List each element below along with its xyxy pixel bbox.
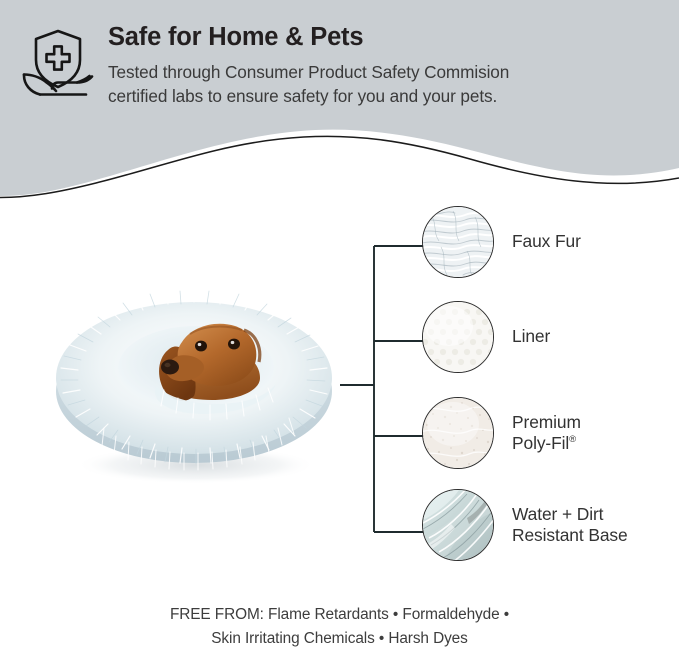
callout-bracket-connector [336, 220, 436, 560]
callout-label-water-dirt-resistant-base: Water + Dirt Resistant Base [512, 504, 628, 547]
dog-eye-right [228, 339, 240, 350]
callout-faux-fur[interactable]: Faux Fur [422, 205, 672, 279]
poly-fil-swatch [422, 397, 494, 469]
water-dirt-base-swatch-texture [423, 490, 493, 560]
poly-fil-swatch-texture [423, 398, 493, 468]
registered-trademark-symbol: ® [569, 434, 576, 445]
dog-bed-illustration [44, 260, 344, 495]
free-from-footer: FREE FROM: Flame Retardants • Formaldehy… [0, 603, 679, 651]
callout-label-premium-poly-fil: Premium Poly-Fil® [512, 412, 581, 455]
product-area: Faux Fur [0, 200, 679, 595]
callout-label-faux-fur: Faux Fur [512, 231, 581, 253]
footer-line-1: FREE FROM: Flame Retardants • Formaldehy… [0, 603, 679, 627]
faux-fur-swatch-texture [423, 207, 493, 277]
water-dirt-resistant-base-swatch [422, 489, 494, 561]
callout-premium-poly-fil[interactable]: Premium Poly-Fil® [422, 396, 672, 470]
liner-swatch-texture [423, 302, 493, 372]
dog-bed-product-image [44, 260, 344, 495]
dog-eye-right-glint [231, 341, 235, 344]
header-text-block: Safe for Home & Pets Tested through Cons… [108, 22, 668, 108]
dog-eye-left [195, 341, 207, 352]
header-content: Safe for Home & Pets Tested through Cons… [0, 0, 679, 130]
callout-label-poly-fil-text: Premium Poly-Fil [512, 412, 581, 454]
callout-water-dirt-resistant-base[interactable]: Water + Dirt Resistant Base [422, 488, 672, 562]
dog-nose-highlight [165, 363, 171, 367]
header-band: Safe for Home & Pets Tested through Cons… [0, 0, 679, 200]
header-subtitle-line-1: Tested through Consumer Product Safety C… [108, 61, 668, 85]
faux-fur-swatch [422, 206, 494, 278]
dog-nose [161, 360, 179, 375]
callout-bracket-svg [336, 220, 436, 560]
shield-cross-hand-icon [18, 24, 98, 104]
dog-eye-left-glint [198, 343, 202, 346]
header-subtitle-line-2: certified labs to ensure safety for you … [108, 85, 668, 109]
footer-line-2: Skin Irritating Chemicals • Harsh Dyes [0, 627, 679, 651]
callout-liner[interactable]: Liner [422, 300, 672, 374]
liner-swatch [422, 301, 494, 373]
callout-label-liner: Liner [512, 326, 550, 348]
page-title: Safe for Home & Pets [108, 22, 668, 52]
